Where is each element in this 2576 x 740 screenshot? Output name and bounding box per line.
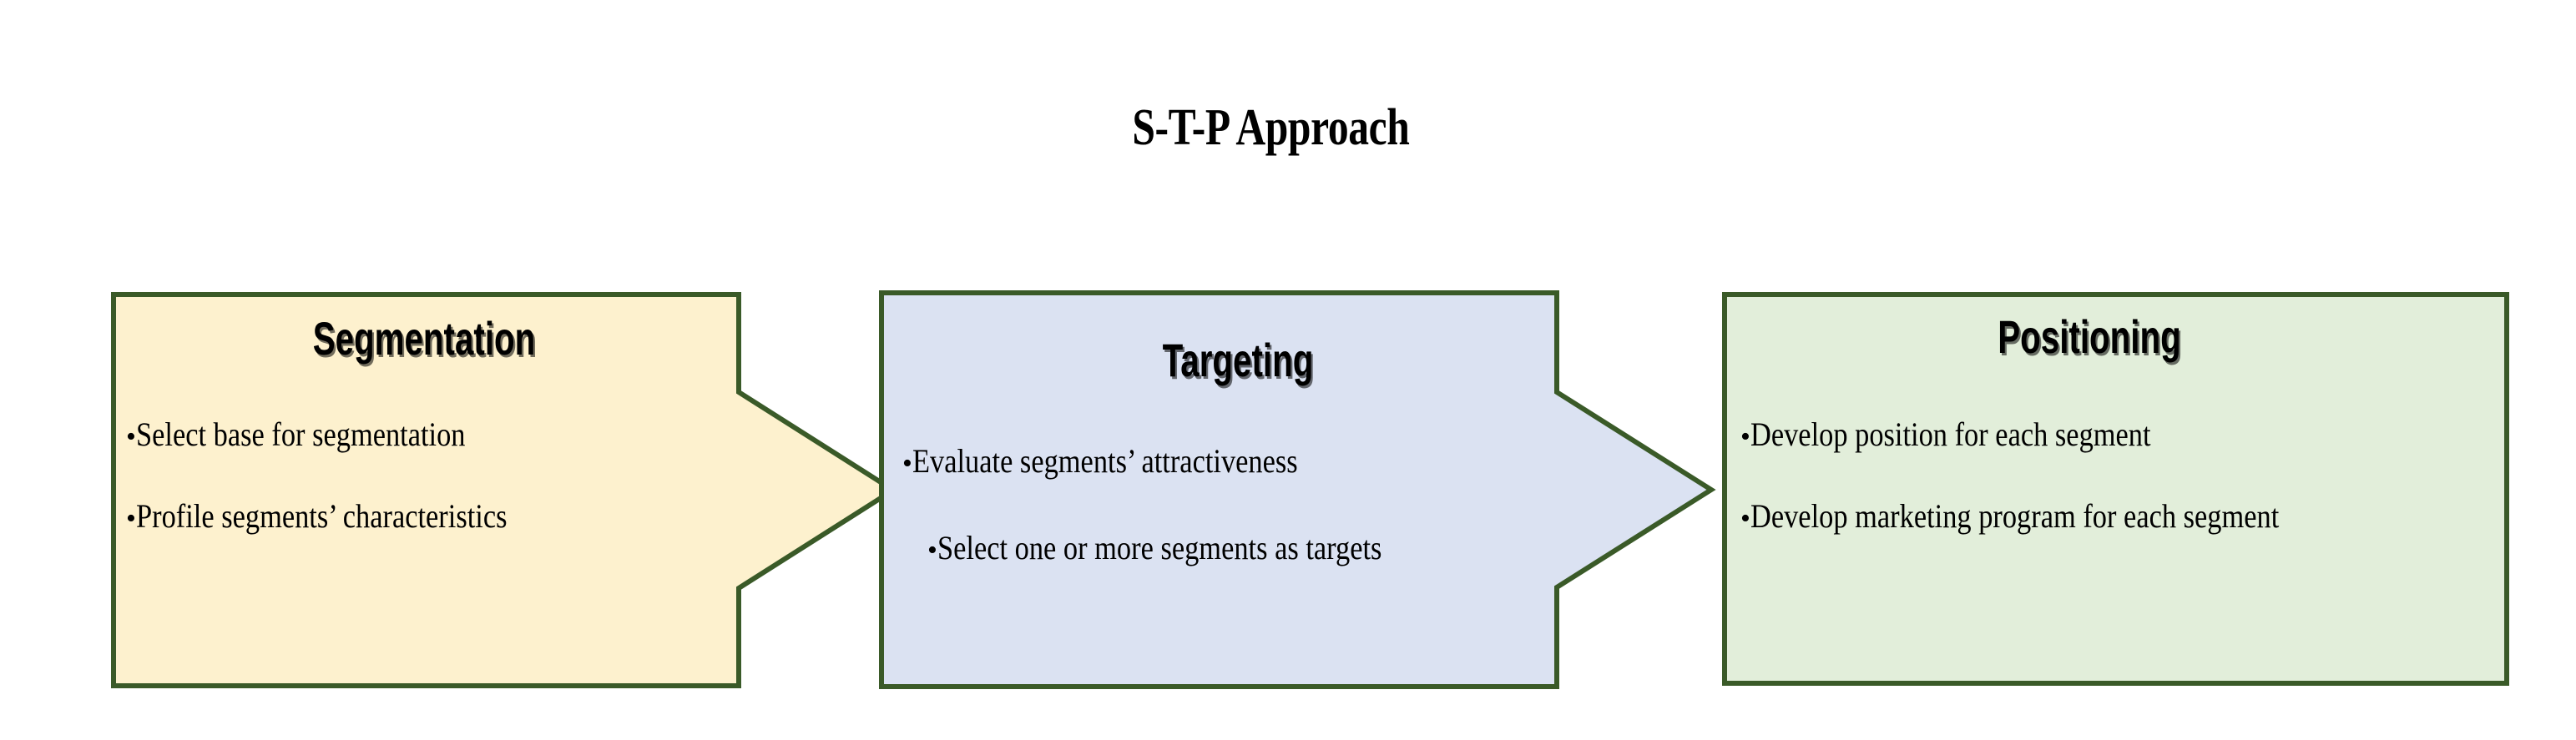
diagram-canvas: S-T-P Approach Segmentation • Select bas… bbox=[0, 0, 2576, 740]
stage-box-positioning[interactable]: Positioning • Develop position for each … bbox=[1722, 292, 2509, 686]
targeting-bullet-1-text: Evaluate segments’ attractiveness bbox=[912, 444, 1298, 479]
positioning-bullet-2: • Develop marketing program for each seg… bbox=[1740, 499, 2365, 534]
targeting-bullet-2-text: Select one or more segments as targets bbox=[937, 531, 1381, 566]
positioning-bullet-1-text: Develop position for each segment bbox=[1750, 417, 2151, 452]
bullet-dot-icon: • bbox=[1740, 423, 1750, 451]
segmentation-bullet-2: • Profile segments’ characteristics bbox=[126, 499, 568, 534]
bullet-dot-icon: • bbox=[126, 505, 136, 533]
targeting-bullet-2: • Select one or more segments as targets bbox=[927, 531, 1454, 566]
segmentation-bullet-1: • Select base for segmentation bbox=[126, 417, 519, 452]
targeting-bullet-1: • Evaluate segments’ attractiveness bbox=[902, 444, 1361, 479]
targeting-content: Targeting • Evaluate segments’ attractiv… bbox=[879, 290, 1557, 689]
targeting-heading: Targeting bbox=[979, 337, 1496, 384]
segmentation-bullet-2-text: Profile segments’ characteristics bbox=[136, 499, 507, 534]
positioning-heading: Positioning bbox=[1825, 314, 2354, 360]
stage-box-segmentation[interactable]: Segmentation • Select base for segmentat… bbox=[111, 292, 896, 688]
positioning-content: Positioning • Develop position for each … bbox=[1722, 292, 2504, 686]
stage-box-targeting[interactable]: Targeting • Evaluate segments’ attractiv… bbox=[879, 290, 1714, 689]
segmentation-heading: Segmentation bbox=[199, 315, 649, 362]
positioning-bullet-2-text: Develop marketing program for each segme… bbox=[1750, 499, 2279, 534]
segmentation-bullet-1-text: Select base for segmentation bbox=[136, 417, 466, 452]
segmentation-content: Segmentation • Select base for segmentat… bbox=[111, 292, 739, 688]
bullet-dot-icon: • bbox=[927, 536, 937, 565]
positioning-bullet-1: • Develop position for each segment bbox=[1740, 417, 2216, 452]
bullet-dot-icon: • bbox=[902, 450, 912, 478]
stp-flow-diagram: Segmentation • Select base for segmentat… bbox=[0, 0, 2576, 740]
bullet-dot-icon: • bbox=[126, 423, 136, 451]
bullet-dot-icon: • bbox=[1740, 505, 1750, 533]
